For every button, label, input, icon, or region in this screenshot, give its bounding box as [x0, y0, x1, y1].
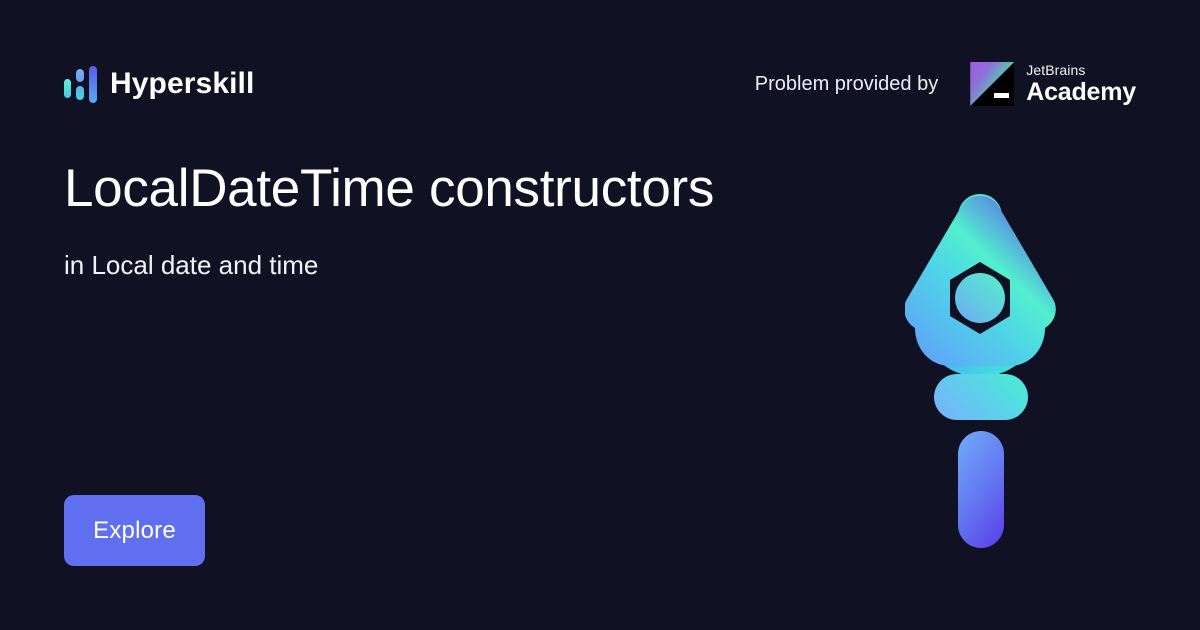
jetbrains-gradient-triangle: [970, 62, 1014, 106]
hyperskill-wordmark: Hyperskill: [110, 69, 254, 99]
page-title: LocalDateTime constructors: [64, 160, 864, 218]
share-card: Hyperskill Problem provided by JetBrains…: [0, 0, 1200, 630]
triangle-ring-group: [905, 194, 1056, 377]
inner-dot: [955, 273, 1005, 323]
hyperskill-bar-right: [89, 66, 97, 103]
jetbrains-label: JetBrains: [1026, 63, 1136, 77]
hyperskill-bar-left: [64, 79, 71, 98]
torch-svg: [905, 188, 1065, 558]
main-content: LocalDateTime constructors in Local date…: [64, 160, 864, 281]
jetbrains-square-icon: [970, 62, 1014, 106]
jetbrains-academy-logo[interactable]: JetBrains Academy: [970, 62, 1136, 106]
jetbrains-dash-mark: [994, 93, 1009, 98]
hyperskill-bars-icon: [64, 63, 94, 105]
hyperskill-torch-illustration: [905, 188, 1065, 558]
provided-by-label: Problem provided by: [755, 74, 938, 94]
header: Hyperskill Problem provided by JetBrains…: [0, 0, 1200, 140]
vertical-pill: [958, 431, 1004, 548]
horizontal-pill: [934, 374, 1028, 420]
academy-label: Academy: [1026, 80, 1136, 105]
provider-block: Problem provided by JetBrains Academy: [755, 60, 1136, 108]
jetbrains-academy-wordmark: JetBrains Academy: [1026, 63, 1136, 105]
hyperskill-bar-mid-top: [76, 69, 84, 82]
hyperskill-brand[interactable]: Hyperskill: [64, 60, 254, 108]
page-subtitle: in Local date and time: [64, 250, 864, 281]
explore-button[interactable]: Explore: [64, 495, 205, 566]
hyperskill-bar-mid-bottom: [76, 86, 84, 100]
